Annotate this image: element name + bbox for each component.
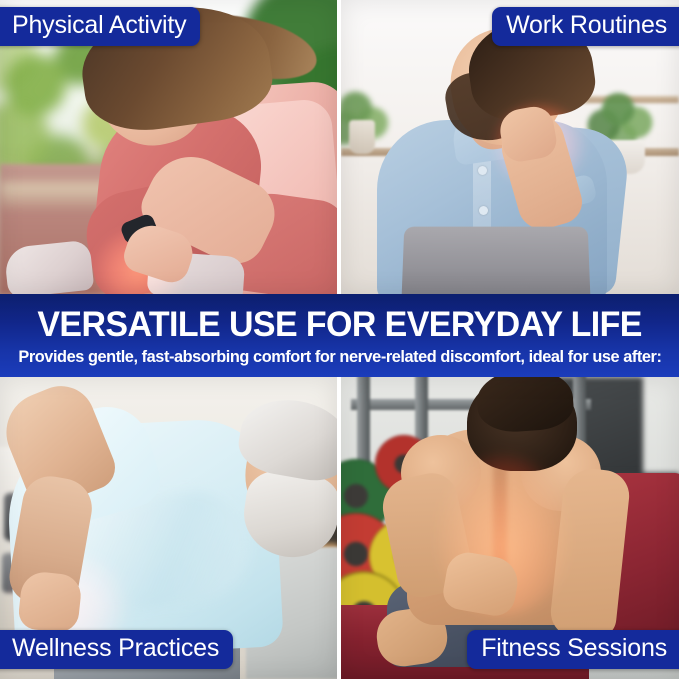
label-work-routines: Work Routines <box>492 7 679 46</box>
vase <box>349 120 375 154</box>
laptop <box>402 227 591 294</box>
shirt-button-upper <box>478 166 487 175</box>
quadrant-work-routines: Work Routines <box>341 0 679 294</box>
product-infographic: Physical Activity <box>0 0 679 679</box>
banner-subtitle: Provides gentle, fast-absorbing comfort … <box>18 348 661 365</box>
shirt-button-lower <box>479 206 488 215</box>
label-fitness-sessions: Fitness Sessions <box>467 630 679 669</box>
quadrant-physical-activity: Physical Activity <box>0 0 337 294</box>
label-physical-activity: Physical Activity <box>0 7 200 46</box>
hand-on-lower-back <box>17 570 83 634</box>
quadrant-fitness-sessions: Fitness Sessions <box>341 377 679 679</box>
label-wellness-practices: Wellness Practices <box>0 630 233 669</box>
center-banner: VERSATILE USE FOR EVERYDAY LIFE Provides… <box>0 294 679 377</box>
banner-headline: VERSATILE USE FOR EVERYDAY LIFE <box>37 307 642 342</box>
quadrant-wellness-practices: Wellness Practices <box>0 377 337 679</box>
